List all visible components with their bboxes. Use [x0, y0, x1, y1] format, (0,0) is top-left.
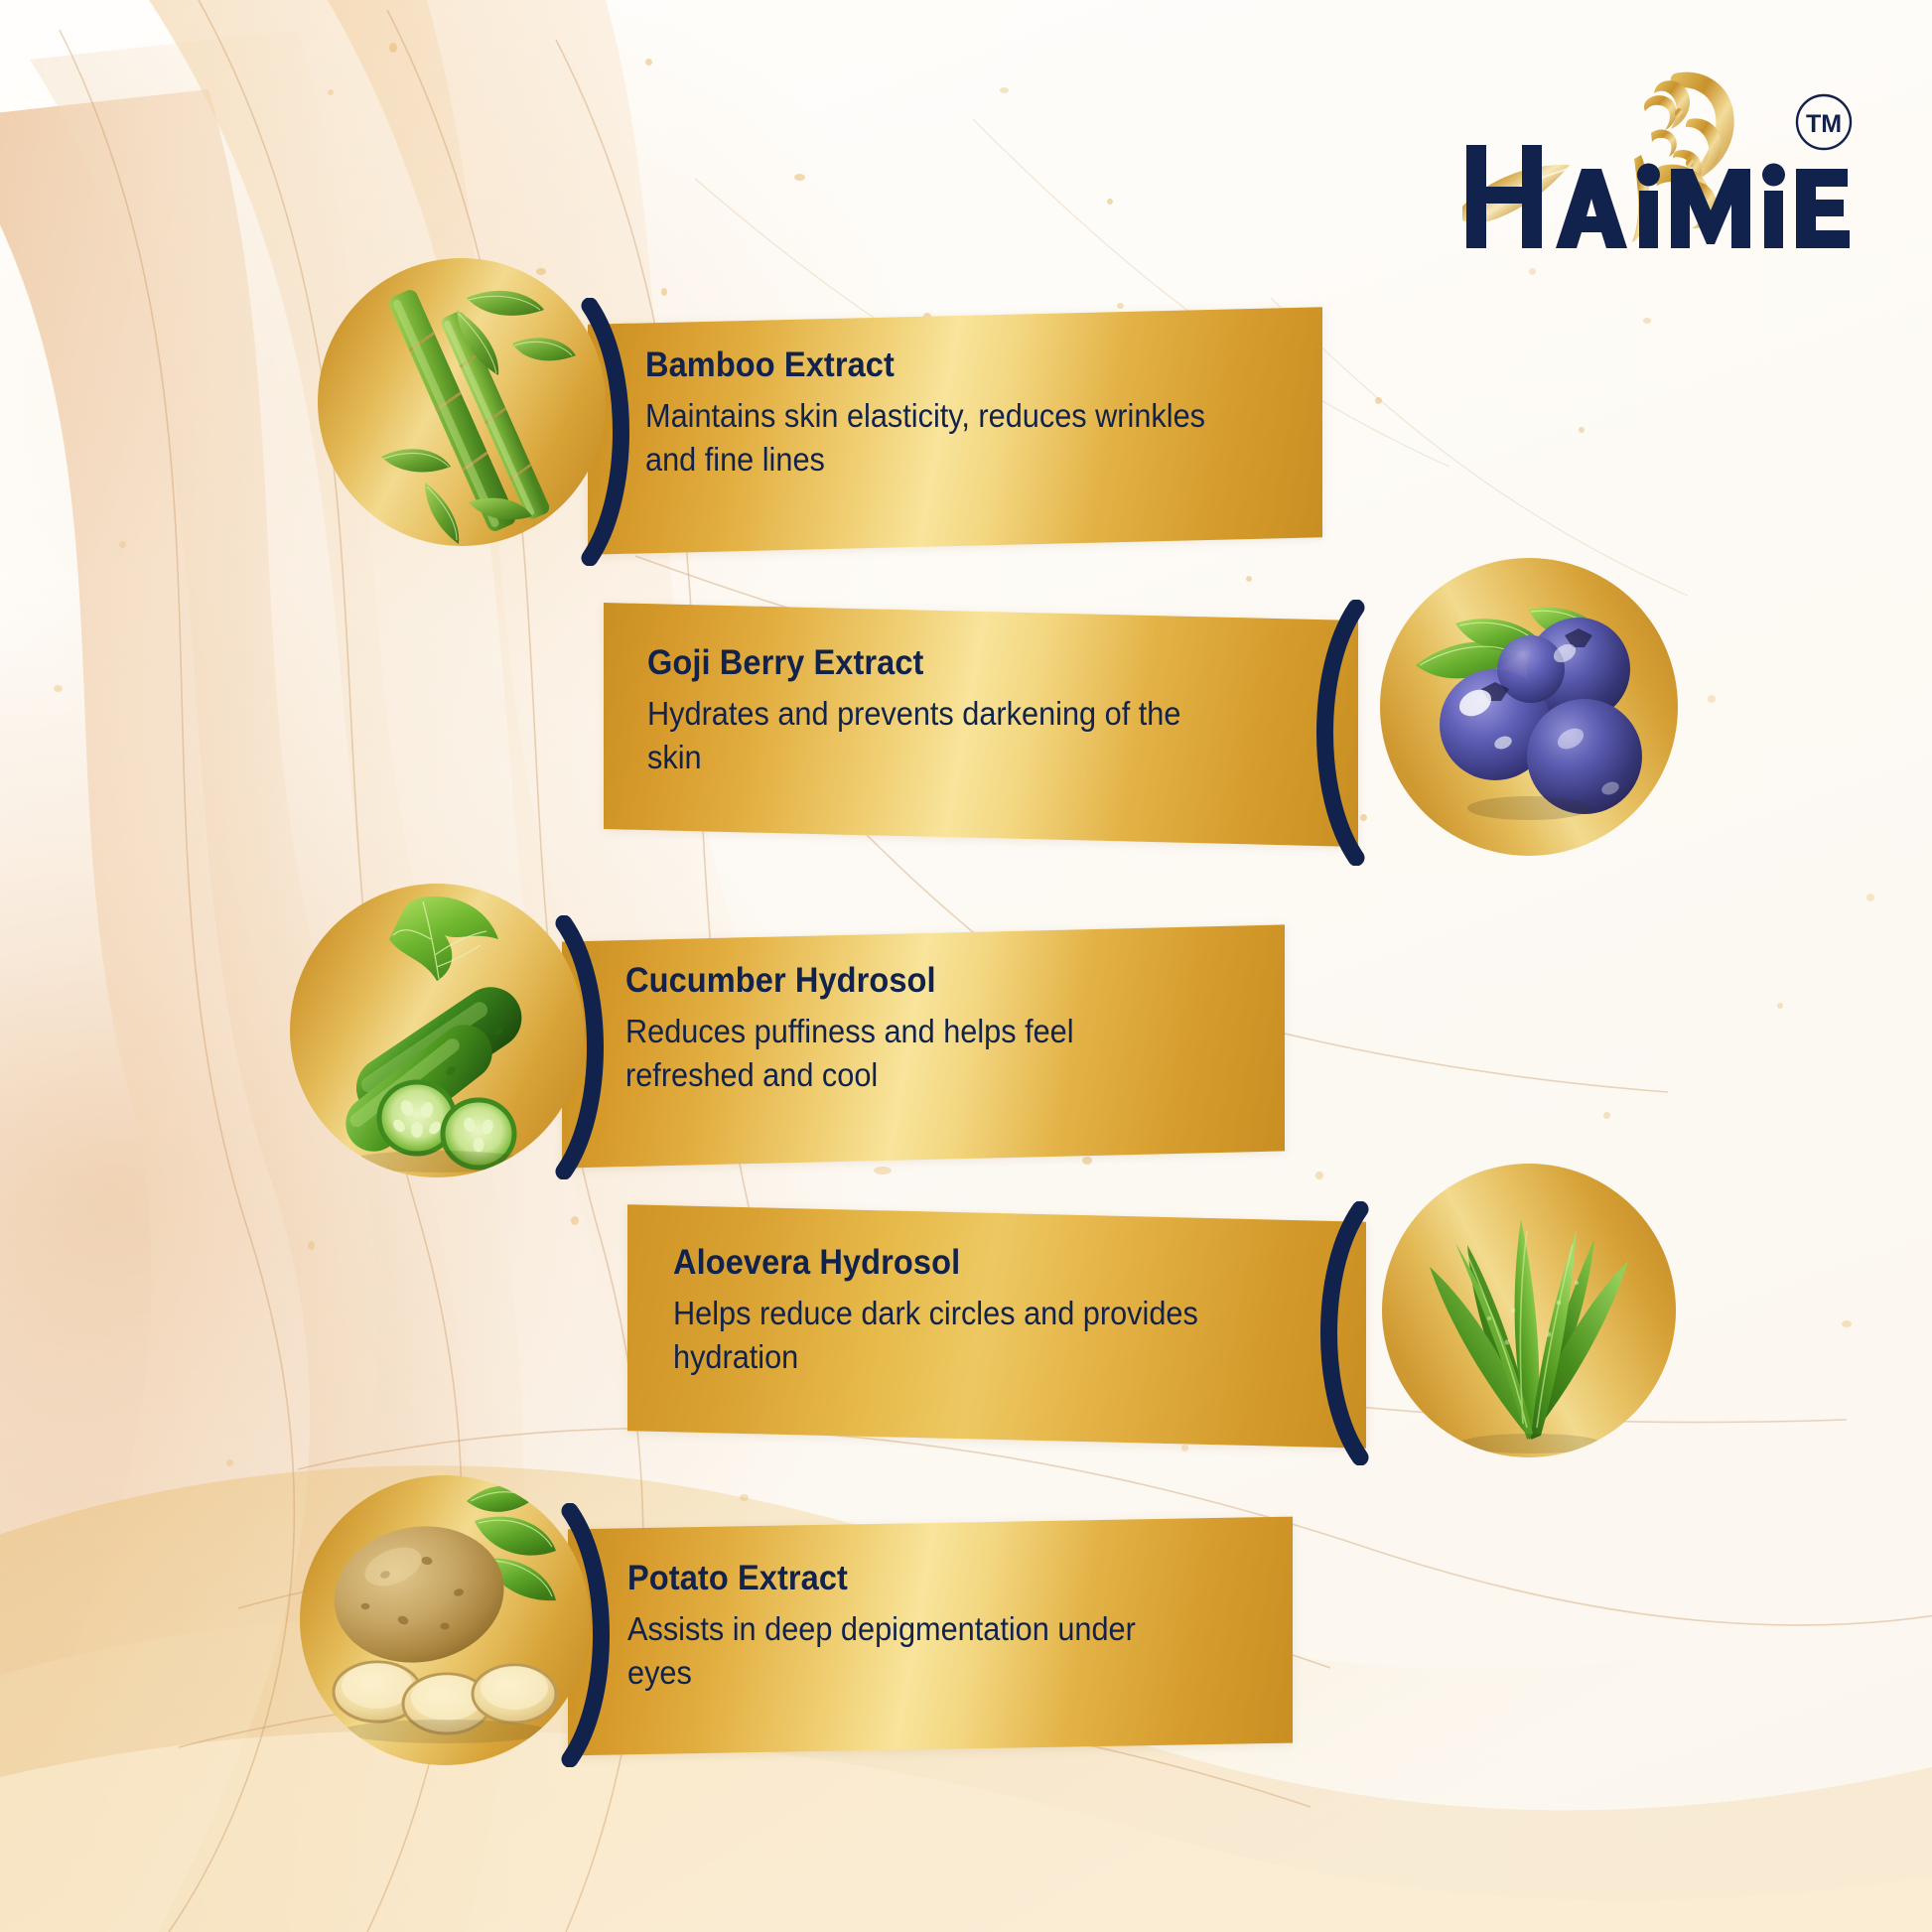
infographic-canvas: TM — [0, 0, 1932, 1932]
logo-svg: TM — [1445, 60, 1862, 248]
cucumber-icon — [290, 884, 584, 1177]
goji-title: Goji Berry Extract — [647, 643, 1220, 683]
aloe-vera-icon — [1382, 1164, 1676, 1457]
potato-text-block: Potato Extract Assists in deep depigment… — [627, 1559, 1263, 1695]
goji-circle — [1380, 558, 1678, 856]
cucumber-text-block: Cucumber Hydrosol Reduces puffiness and … — [625, 961, 1241, 1097]
aloevera-desc: Helps reduce dark circles and provides h… — [673, 1292, 1246, 1379]
brand-logo: TM — [1445, 60, 1862, 248]
bamboo-text-block: Bamboo Extract Maintains skin elasticity… — [645, 345, 1261, 482]
goji-text-block: Goji Berry Extract Hydrates and prevents… — [647, 643, 1263, 779]
aloevera-text-block: Aloevera Hydrosol Helps reduce dark circ… — [673, 1243, 1289, 1379]
trademark-label: TM — [1806, 110, 1842, 138]
potato-desc: Assists in deep depigmentation under eye… — [627, 1607, 1200, 1695]
bamboo-circle — [318, 258, 606, 546]
bamboo-desc: Maintains skin elasticity, reduces wrink… — [645, 394, 1218, 482]
goji-desc: Hydrates and prevents darkening of the s… — [647, 692, 1220, 779]
bamboo-stalk-icon — [318, 258, 606, 546]
potato-title: Potato Extract — [627, 1559, 1218, 1598]
aloevera-title: Aloevera Hydrosol — [673, 1243, 1246, 1283]
bamboo-title: Bamboo Extract — [645, 345, 1218, 385]
aloevera-circle — [1382, 1164, 1676, 1457]
logo-wordmark — [1466, 145, 1850, 248]
cucumber-desc: Reduces puffiness and helps feel refresh… — [625, 1010, 1198, 1097]
berry-cluster-icon — [1380, 558, 1678, 856]
cucumber-leaf — [389, 897, 498, 981]
cucumber-title: Cucumber Hydrosol — [625, 961, 1198, 1001]
cucumber-circle — [290, 884, 584, 1177]
potato-circle — [300, 1475, 590, 1765]
potato-icon — [300, 1475, 590, 1765]
